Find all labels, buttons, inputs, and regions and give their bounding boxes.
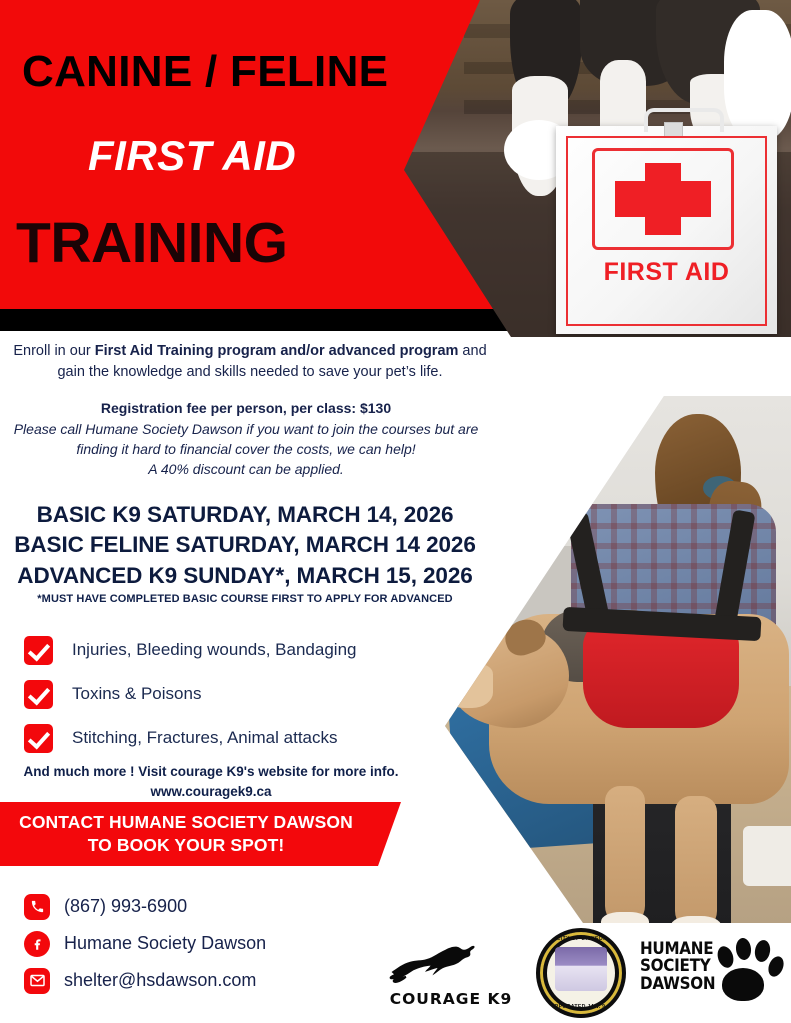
email-icon bbox=[24, 968, 50, 994]
contact-details-list: (867) 993-6900 Humane Society Dawson she… bbox=[24, 888, 266, 999]
checklist-item-label: Toxins & Poisons bbox=[72, 684, 201, 704]
header-black-bar bbox=[0, 309, 525, 331]
checkbox-checked-icon bbox=[24, 680, 53, 709]
fee-note-line-1: Please call Humane Society Dawson if you… bbox=[6, 419, 486, 439]
course-dates-list: BASIC K9 SATURDAY, MARCH 14, 2026 BASIC … bbox=[0, 500, 490, 591]
contact-banner-text: CONTACT HUMANE SOCIETY DAWSON TO BOOK YO… bbox=[0, 802, 372, 858]
sponsor-logos: COURAGE K9 THE CITY OF DAWSON Y.T. INCOR… bbox=[378, 928, 783, 1016]
seal-top-text: THE CITY OF DAWSON Y.T. bbox=[540, 936, 622, 942]
more-info-line-1: And much more ! Visit courage K9's websi… bbox=[6, 762, 416, 782]
contact-banner-line-2: TO BOOK YOUR SPOT! bbox=[0, 834, 372, 857]
photo-dog-in-rehab-sling bbox=[445, 396, 791, 923]
city-of-dawson-seal-logo: THE CITY OF DAWSON Y.T. INCORPORATED JAN… bbox=[536, 928, 626, 1018]
checklist-item-label: Stitching, Fractures, Animal attacks bbox=[72, 728, 338, 748]
courage-k9-wordmark: COURAGE K9 bbox=[386, 990, 516, 1008]
course-footnote: *MUST HAVE COMPLETED BASIC COURSE FIRST … bbox=[0, 593, 490, 605]
hsd-wordmark: HUMANE SOCIETY DAWSON bbox=[640, 940, 715, 992]
seal-bottom-text: INCORPORATED JAN. 9, 1902 bbox=[540, 1004, 622, 1010]
website-url[interactable]: www.couragek9.ca bbox=[6, 782, 416, 802]
email-address: shelter@hsdawson.com bbox=[64, 970, 256, 991]
first-aid-kit-label: FIRST AID bbox=[556, 258, 777, 287]
checkbox-checked-icon bbox=[24, 724, 53, 753]
hsd-line-3: DAWSON bbox=[640, 975, 715, 992]
contact-banner-line-1: CONTACT HUMANE SOCIETY DAWSON bbox=[0, 811, 372, 834]
poster-root: FIRST AID CANINE / FELINE FIRST AID TRAI… bbox=[0, 0, 791, 1023]
registration-fee-note: Please call Humane Society Dawson if you… bbox=[6, 419, 486, 479]
contact-banner: CONTACT HUMANE SOCIETY DAWSON TO BOOK YO… bbox=[0, 802, 401, 866]
first-aid-kit-graphic: FIRST AID bbox=[556, 126, 777, 334]
humane-society-dawson-logo: HUMANE SOCIETY DAWSON bbox=[640, 936, 782, 1006]
title-line-canine-feline: CANINE / FELINE bbox=[22, 50, 388, 94]
checklist-item: Stitching, Fractures, Animal attacks bbox=[24, 716, 444, 760]
checklist-item: Toxins & Poisons bbox=[24, 672, 444, 716]
fee-note-line-2: finding it hard to financial cover the c… bbox=[6, 439, 486, 459]
contact-row-phone[interactable]: (867) 993-6900 bbox=[24, 888, 266, 925]
phone-number: (867) 993-6900 bbox=[64, 896, 187, 917]
intro-bold: First Aid Training program and/or advanc… bbox=[95, 343, 459, 359]
phone-icon bbox=[24, 894, 50, 920]
courage-k9-logo: COURAGE K9 bbox=[386, 934, 516, 1008]
contact-row-facebook[interactable]: Humane Society Dawson bbox=[24, 925, 266, 962]
course-date-basic-k9: BASIC K9 SATURDAY, MARCH 14, 2026 bbox=[0, 500, 490, 530]
facebook-page-name: Humane Society Dawson bbox=[64, 933, 266, 954]
more-info-note: And much more ! Visit courage K9's websi… bbox=[6, 762, 416, 803]
contact-row-email[interactable]: shelter@hsdawson.com bbox=[24, 962, 266, 999]
checkbox-checked-icon bbox=[24, 636, 53, 665]
hsd-line-2: SOCIETY bbox=[640, 957, 715, 974]
topics-checklist: Injuries, Bleeding wounds, Bandaging Tox… bbox=[24, 628, 444, 760]
hsd-line-1: HUMANE bbox=[640, 940, 715, 957]
registration-fee-headline: Registration fee per person, per class: … bbox=[6, 400, 486, 416]
paw-print-icon bbox=[714, 936, 782, 1002]
leaping-dog-icon bbox=[386, 934, 516, 984]
course-date-basic-feline: BASIC FELINE SATURDAY, MARCH 14 2026 bbox=[0, 530, 490, 560]
title-line-first-aid: FIRST AID bbox=[88, 135, 296, 177]
checklist-item-label: Injuries, Bleeding wounds, Bandaging bbox=[72, 640, 356, 660]
intro-paragraph: Enroll in our First Aid Training program… bbox=[10, 341, 490, 382]
checklist-item: Injuries, Bleeding wounds, Bandaging bbox=[24, 628, 444, 672]
facebook-icon bbox=[24, 931, 50, 957]
intro-lead: Enroll in our bbox=[13, 343, 94, 359]
title-line-training: TRAINING bbox=[16, 215, 287, 272]
fee-note-line-3: A 40% discount can be applied. bbox=[6, 459, 486, 479]
course-date-advanced-k9: ADVANCED K9 SUNDAY*, MARCH 15, 2026 bbox=[0, 561, 490, 591]
